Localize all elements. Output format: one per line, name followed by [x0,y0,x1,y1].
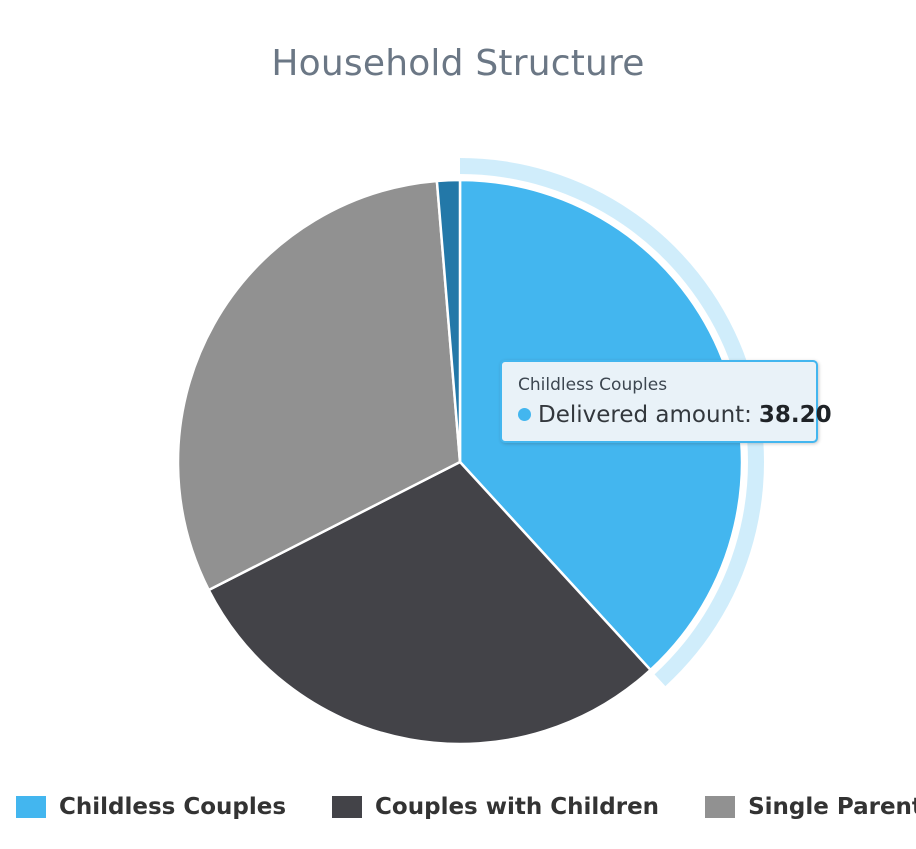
pie-chart-container: Household Structure Childless Couples De… [0,0,916,849]
tooltip-metric-value: 38.20 [759,402,832,428]
tooltip-metric-label: Delivered amount: [538,402,752,428]
tooltip-series-name: Childless Couples [518,376,800,396]
tooltip-value-row: Delivered amount: 38.20 [518,402,800,428]
legend-item-single-parents[interactable]: Single Parents [705,796,916,819]
legend-swatch-icon [332,796,362,818]
legend-swatch-icon [705,796,735,818]
legend-item-label: Single Parents [748,796,916,819]
legend-item-couples-with-children[interactable]: Couples with Children [332,796,659,819]
legend-swatch-icon [16,796,46,818]
legend-item-label: Childless Couples [59,796,286,819]
pie-slice-group [178,180,742,744]
tooltip-bullet-icon [518,408,531,421]
chart-legend: Childless CouplesCouples with ChildrenSi… [0,789,916,825]
chart-tooltip: Childless Couples Delivered amount: 38.2… [500,360,818,443]
legend-item-label: Couples with Children [375,796,659,819]
legend-item-childless-couples[interactable]: Childless Couples [16,796,286,819]
